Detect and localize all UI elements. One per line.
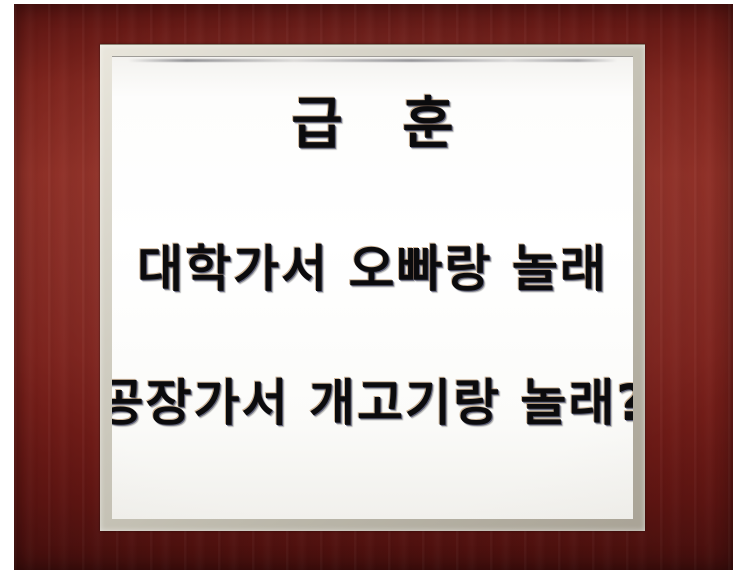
plaque-line-1: 대학가서 오빠랑 놀래 [137, 229, 608, 301]
plaque-text-block: 급 훈 대학가서 오빠랑 놀래 공장가서 개고기랑 놀래? [112, 56, 633, 519]
wooden-picture-frame: 급 훈 대학가서 오빠랑 놀래 공장가서 개고기랑 놀래? [14, 4, 733, 570]
white-plaque-plate: 급 훈 대학가서 오빠랑 놀래 공장가서 개고기랑 놀래? [112, 56, 633, 519]
plaque-headline: 급 훈 [271, 96, 474, 155]
photo-canvas: 급 훈 대학가서 오빠랑 놀래 공장가서 개고기랑 놀래? [0, 0, 756, 581]
plaque-line-2: 공장가서 개고기랑 놀래? [112, 363, 633, 435]
frame-inner-bevel: 급 훈 대학가서 오빠랑 놀래 공장가서 개고기랑 놀래? [100, 44, 645, 531]
